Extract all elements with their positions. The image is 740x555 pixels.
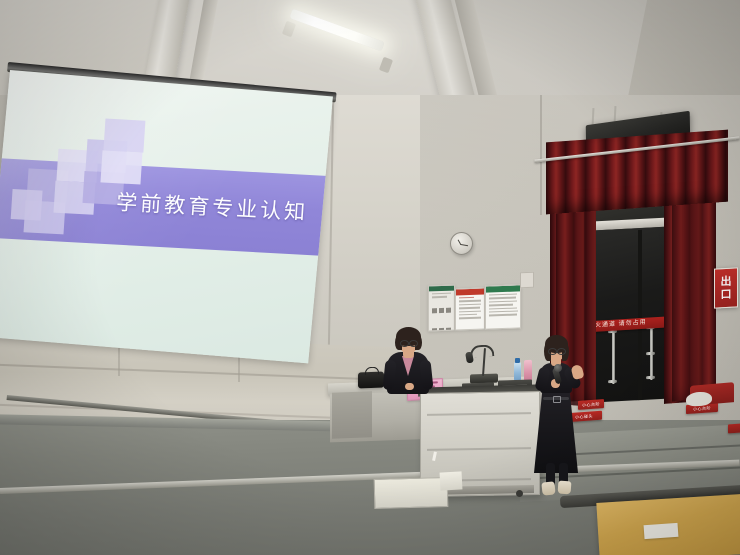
- lectern-groove: [427, 412, 531, 416]
- step-warning-sign: [728, 424, 740, 434]
- poster-header: [456, 289, 484, 296]
- slide-square: [103, 119, 145, 153]
- speaker-boot-right: [558, 481, 572, 495]
- speaker-hand-open: [570, 364, 584, 380]
- lectern-groove: [427, 447, 531, 451]
- door-handle-bracket: [608, 380, 617, 383]
- poster-header: [429, 286, 454, 292]
- floor-panel: [374, 477, 449, 509]
- poster-text-line: [432, 296, 447, 298]
- curtain-right-inner: [672, 178, 702, 401]
- host-glasses-left: [400, 340, 409, 347]
- floor-panel-small: [440, 471, 463, 490]
- microphone-gooseneck-curve: [470, 344, 495, 358]
- poster-header: [486, 285, 520, 292]
- speaker-boot-left: [541, 481, 555, 495]
- exit-sign-char-1: 出: [721, 275, 732, 289]
- lecture-hall-photo: 学前教育专业认知: [0, 0, 740, 555]
- wall-outlet-plate: [520, 272, 534, 288]
- wall-clock-icon: [450, 232, 473, 255]
- door-handle-bracket: [646, 376, 655, 379]
- poster-text-line: [459, 300, 481, 302]
- paper-on-desk: [644, 523, 679, 539]
- clock-minute-hand: [460, 243, 468, 245]
- lectern-caster: [516, 490, 523, 497]
- wall-poster-green: [485, 284, 521, 329]
- poster-text-line: [459, 310, 481, 312]
- poster-text-line: [489, 294, 517, 296]
- door-mullion: [638, 230, 642, 400]
- projection-screen-assembly: 学前教育专业认知: [2, 62, 338, 352]
- person-seated-host: [385, 326, 431, 386]
- handbag-handle: [365, 367, 379, 375]
- poster-text-line: [459, 314, 477, 316]
- slide-square-pattern: [10, 70, 333, 97]
- exit-sign: 出 口: [714, 267, 738, 308]
- person-standing-speaker: [527, 335, 589, 495]
- exit-sign-char-2: 口: [721, 288, 732, 302]
- handbag: [358, 372, 384, 389]
- wall-seam: [540, 95, 542, 215]
- poster-chip-row: [429, 299, 454, 320]
- poster-text-line: [489, 310, 518, 312]
- speaker-belt-buckle: [553, 396, 561, 403]
- poster-text-line: [489, 300, 517, 302]
- poster-text-line: [489, 304, 513, 306]
- projection-screen: 学前教育专业认知: [0, 70, 333, 363]
- poster-text-line: [489, 297, 516, 299]
- door-handle-bracket: [646, 352, 655, 355]
- poster-text-line: [489, 314, 517, 316]
- poster-text-line: [459, 303, 481, 305]
- microphone-head-icon: [554, 364, 562, 372]
- lectern-mark: [432, 452, 437, 461]
- speaker-glasses-right: [557, 348, 566, 355]
- poster-text-line: [459, 307, 480, 309]
- door-handle-left[interactable]: [612, 328, 615, 384]
- step-sign-text: 小心台阶: [693, 405, 711, 411]
- bottle-cap: [515, 358, 520, 363]
- poster-text-line: [489, 307, 517, 309]
- slide-square: [100, 150, 142, 184]
- wall-poster-dark: [428, 285, 455, 332]
- slide-square: [11, 189, 43, 221]
- poster-text-line: [432, 293, 451, 295]
- speaker-glasses-left: [548, 348, 557, 355]
- host-glasses-right: [409, 340, 418, 347]
- host-hands: [405, 383, 414, 390]
- poster-text-line: [459, 317, 481, 319]
- poster-chip-row: [429, 319, 454, 331]
- presenter-desk-panel: [332, 391, 372, 438]
- wall-poster-red: [455, 287, 485, 330]
- poster-text-line: [459, 297, 474, 299]
